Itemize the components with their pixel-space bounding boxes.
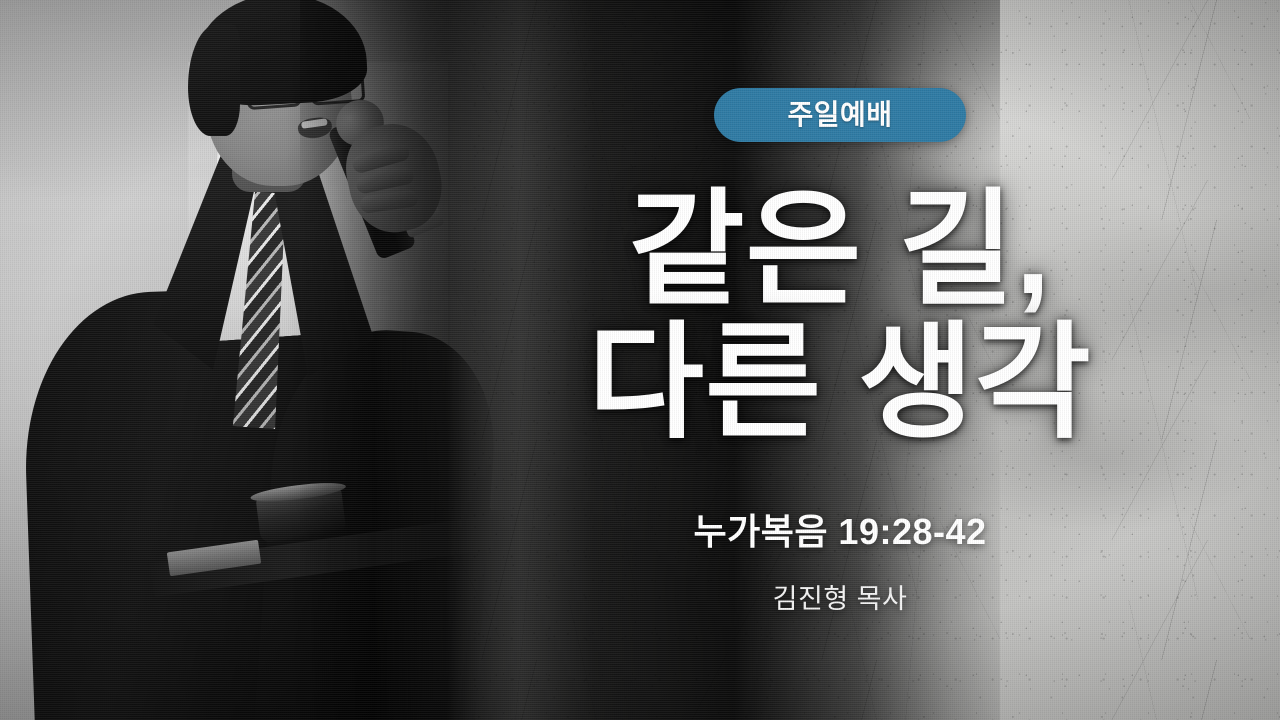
- sermon-title-line-2: 다른 생각: [588, 319, 1092, 448]
- sermon-title-line-1: 같은 길,: [588, 186, 1092, 315]
- service-type-badge: 주일예배: [714, 88, 966, 142]
- scripture-reference: 누가복음 19:28-42: [693, 503, 986, 555]
- sermon-title-slide: 주일예배 같은 길, 다른 생각 누가복음 19:28-42 김진형 목사: [0, 0, 1280, 720]
- sermon-title: 같은 길, 다른 생각: [588, 186, 1092, 447]
- slide-content: 주일예배 같은 길, 다른 생각 누가복음 19:28-42 김진형 목사: [400, 0, 1280, 720]
- speaker-name: 김진형 목사: [773, 577, 908, 616]
